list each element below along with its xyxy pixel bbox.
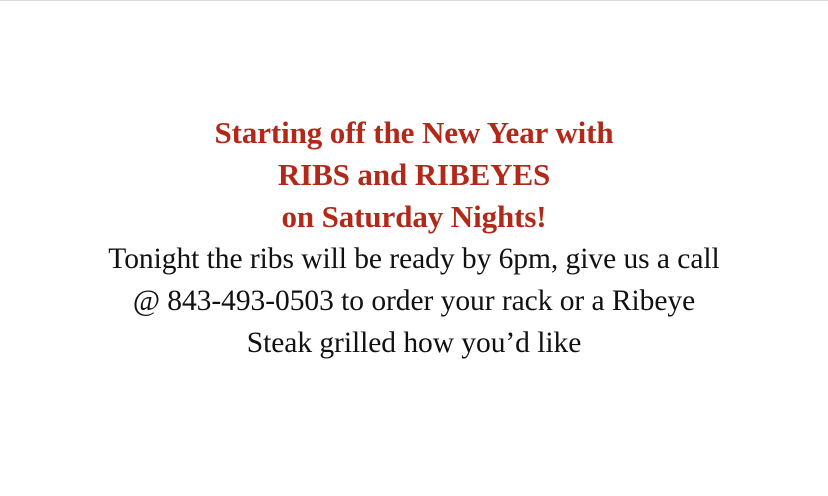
headline-group: Starting off the New Year with RIBS and … — [0, 112, 828, 238]
headline-line-1: Starting off the New Year with — [0, 112, 828, 154]
headline-line-2: RIBS and RIBEYES — [0, 154, 828, 196]
headline-line-3: on Saturday Nights! — [0, 196, 828, 238]
body-line-3: Steak grilled how you’d like — [0, 322, 828, 364]
announcement-poster: Starting off the New Year with RIBS and … — [0, 0, 828, 496]
top-edge-divider — [0, 0, 828, 1]
body-line-2-phone: @ 843-493-0503 to order your rack or a R… — [0, 280, 828, 322]
body-line-1: Tonight the ribs will be ready by 6pm, g… — [0, 238, 828, 280]
announcement-text-block: Starting off the New Year with RIBS and … — [0, 112, 828, 364]
body-group: Tonight the ribs will be ready by 6pm, g… — [0, 238, 828, 364]
